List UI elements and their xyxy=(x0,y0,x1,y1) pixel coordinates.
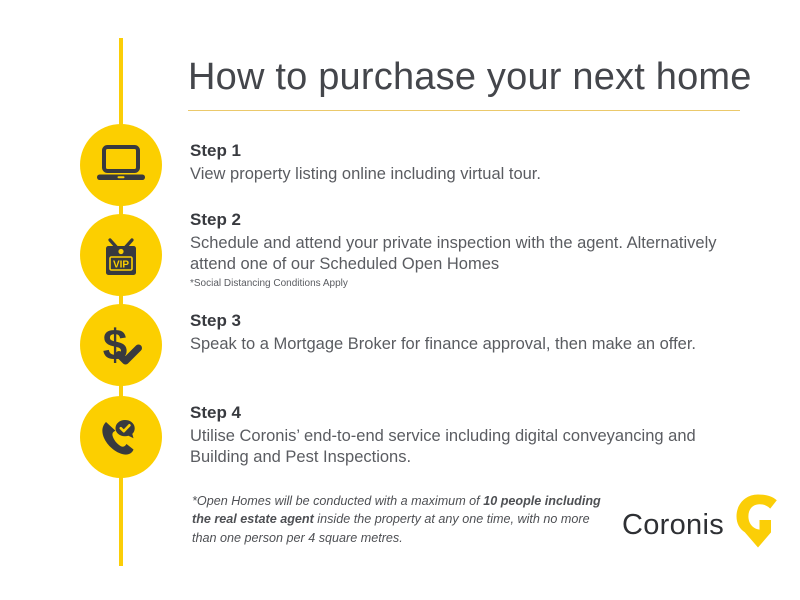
title-underline-divider xyxy=(188,110,740,112)
phone-check-icon xyxy=(96,413,146,461)
logo-wordmark: Coronis xyxy=(622,511,724,540)
step-block-3: Step 3 Speak to a Mortgage Broker for fi… xyxy=(190,310,746,355)
laptop-icon xyxy=(96,143,146,187)
step-description: Schedule and attend your private inspect… xyxy=(190,233,746,276)
step-icon-circle-3: $ xyxy=(80,304,162,386)
step-description: View property listing online including v… xyxy=(190,164,746,185)
dollar-check-icon: $ xyxy=(97,320,145,370)
disclaimer-part-1: *Open Homes will be conducted with a max… xyxy=(192,494,483,508)
coronis-c-pin-icon xyxy=(735,493,781,554)
step-description: Utilise Coronis’ end-to-end service incl… xyxy=(190,426,746,469)
page-header: How to purchase your next home xyxy=(188,56,744,111)
step-note: *Social Distancing Conditions Apply xyxy=(190,277,746,290)
step-title: Step 2 xyxy=(190,209,746,232)
step-icon-circle-4 xyxy=(80,396,162,478)
timeline-spine xyxy=(119,38,123,566)
step-description: Speak to a Mortgage Broker for finance a… xyxy=(190,334,746,355)
step-block-2: Step 2 Schedule and attend your private … xyxy=(190,209,746,290)
coronis-logo: Coronis xyxy=(622,494,788,556)
disclaimer-text: *Open Homes will be conducted with a max… xyxy=(192,492,604,547)
infographic-canvas: VIP $ How to purchase your next home Ste xyxy=(0,0,800,600)
step-block-1: Step 1 View property listing online incl… xyxy=(190,140,746,185)
step-title: Step 1 xyxy=(190,140,746,163)
page-title: How to purchase your next home xyxy=(188,56,744,100)
step-title: Step 4 xyxy=(190,402,746,425)
svg-text:VIP: VIP xyxy=(113,259,129,270)
step-block-4: Step 4 Utilise Coronis’ end-to-end servi… xyxy=(190,402,746,469)
step-title: Step 3 xyxy=(190,310,746,333)
step-icon-circle-2: VIP xyxy=(80,214,162,296)
vip-tag-icon: VIP xyxy=(97,230,145,280)
step-icon-circle-1 xyxy=(80,124,162,206)
